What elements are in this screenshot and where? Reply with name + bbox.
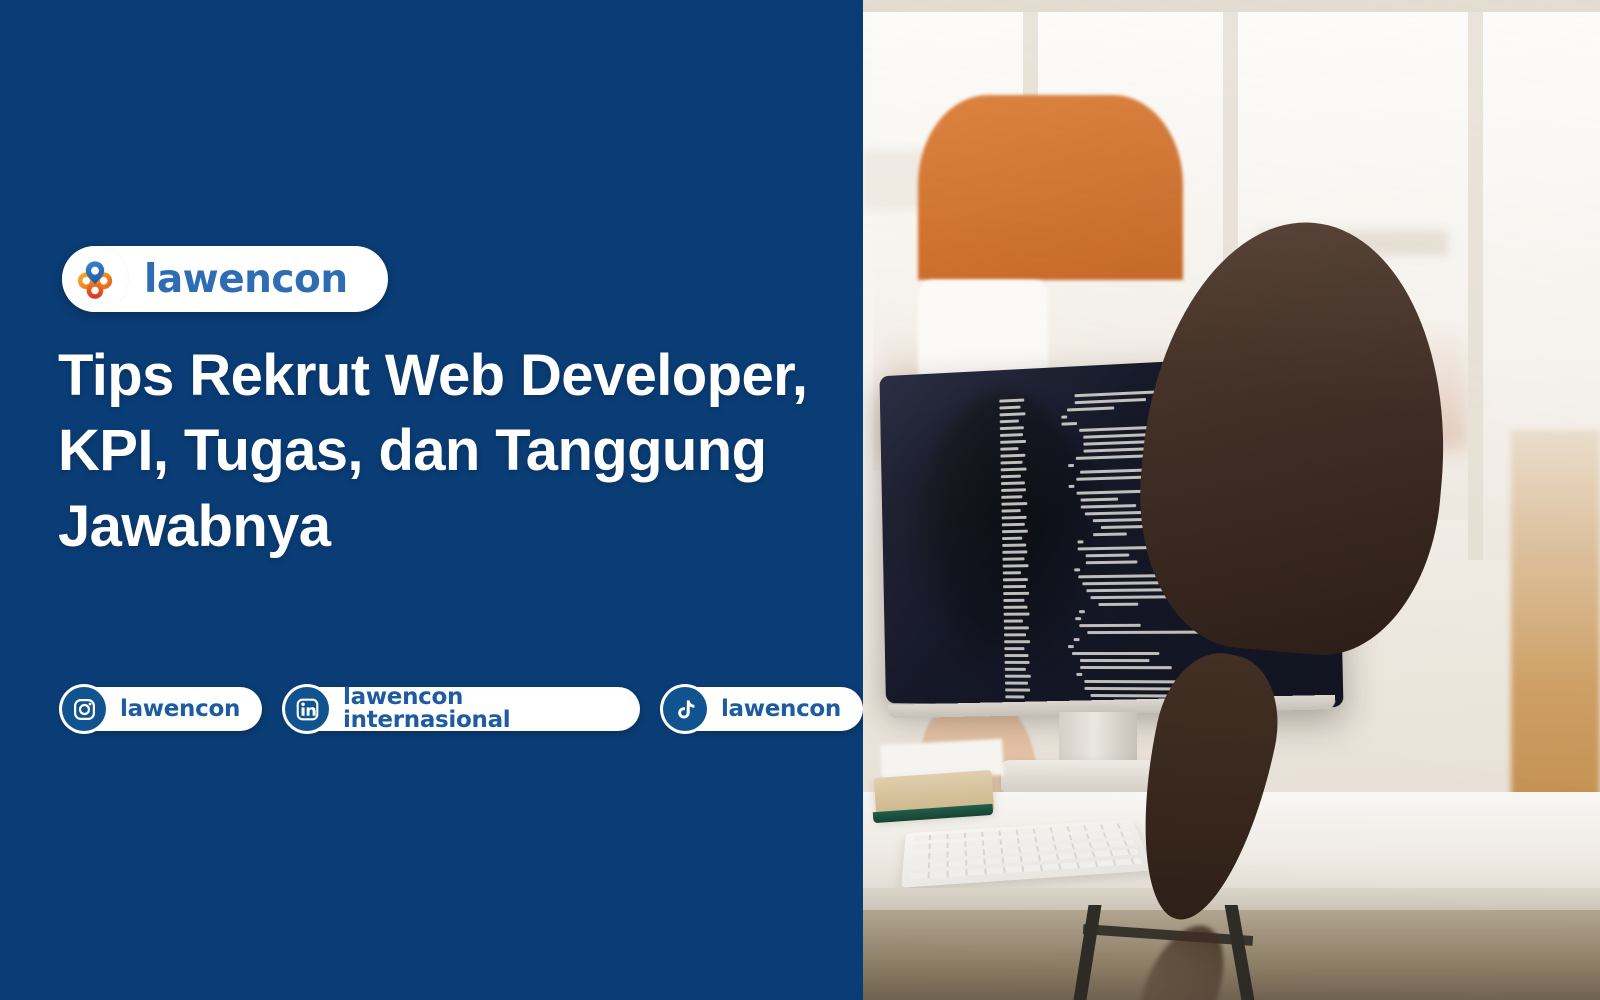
tiktok-icon xyxy=(663,687,707,731)
page-title: Tips Rekrut Web Developer, KPI, Tugas, d… xyxy=(58,338,828,564)
brand-wordmark: lawencon xyxy=(144,260,348,299)
brand-logo-lockup[interactable]: lawencon xyxy=(62,246,388,312)
article-banner: lawencon Tips Rekrut Web Developer, KPI,… xyxy=(0,0,1600,1000)
lawencon-four-petal-mark-icon xyxy=(62,246,128,312)
hero-photo xyxy=(863,0,1600,1000)
left-content-panel: lawencon Tips Rekrut Web Developer, KPI,… xyxy=(0,0,863,1000)
woman-ponytail xyxy=(1118,642,1292,931)
woman-hair-back xyxy=(1127,210,1463,665)
instagram-icon xyxy=(62,687,106,731)
social-badge-tiktok[interactable]: lawencon xyxy=(663,687,863,731)
woman-web-developer xyxy=(1145,222,1600,1000)
window-head-trim xyxy=(863,0,1600,12)
orange-cardigan xyxy=(918,95,1183,280)
linkedin-icon xyxy=(285,687,329,731)
social-handle-tiktok: lawencon xyxy=(721,698,841,721)
social-badge-instagram[interactable]: lawencon xyxy=(62,687,262,731)
social-badge-linkedin[interactable]: lawencon internasional xyxy=(285,687,640,731)
social-handles-row: lawencon lawencon internasional xyxy=(62,687,863,731)
social-handle-linkedin: lawencon internasional xyxy=(343,686,618,732)
social-handle-instagram: lawencon xyxy=(120,698,240,721)
